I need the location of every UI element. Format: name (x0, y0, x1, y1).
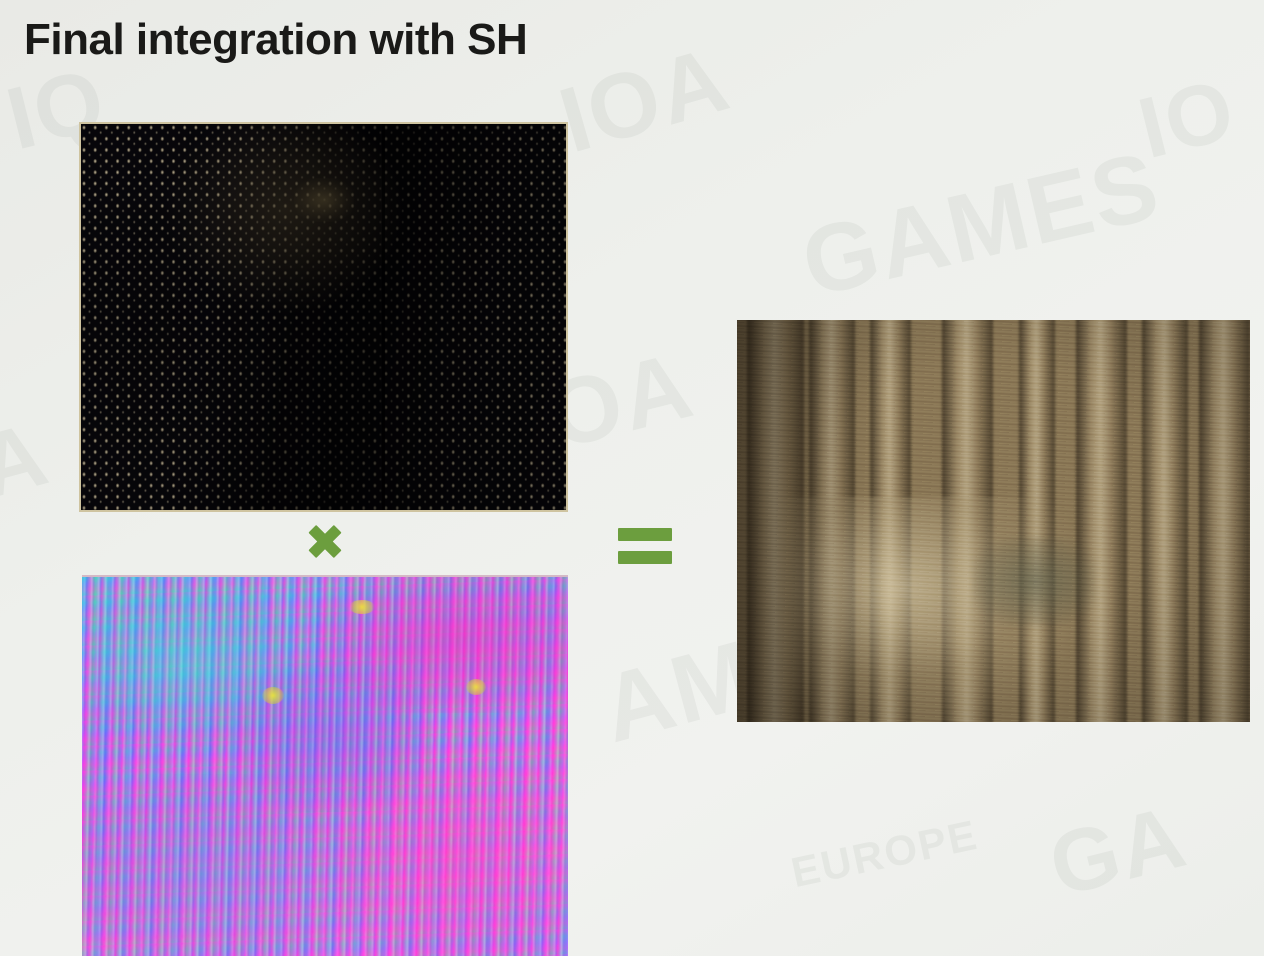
watermark-text: GAMES (792, 131, 1169, 320)
equals-icon (618, 528, 672, 566)
page-title: Final integration with SH (24, 16, 527, 64)
probe-grid-seam (382, 124, 385, 510)
probe-shading-overlay (81, 124, 566, 510)
normal-map-highlight-dot (349, 600, 375, 614)
equals-bar-top (618, 528, 672, 541)
watermark-text: GA (1040, 785, 1197, 917)
result-cave-image (737, 320, 1250, 722)
cave-vignette (737, 320, 1250, 722)
multiply-icon (302, 518, 348, 564)
watermark-text: A (0, 403, 59, 520)
normal-map-image (82, 575, 568, 956)
watermark-text: IOA (549, 27, 741, 175)
watermark-text: IO (1129, 60, 1245, 179)
normal-map-streaks (82, 575, 568, 956)
normal-map-highlight-dot (262, 687, 284, 704)
equals-bar-bottom (618, 551, 672, 564)
watermark-text: EUROPE (787, 811, 982, 897)
sh-probe-grid-image (79, 122, 568, 512)
